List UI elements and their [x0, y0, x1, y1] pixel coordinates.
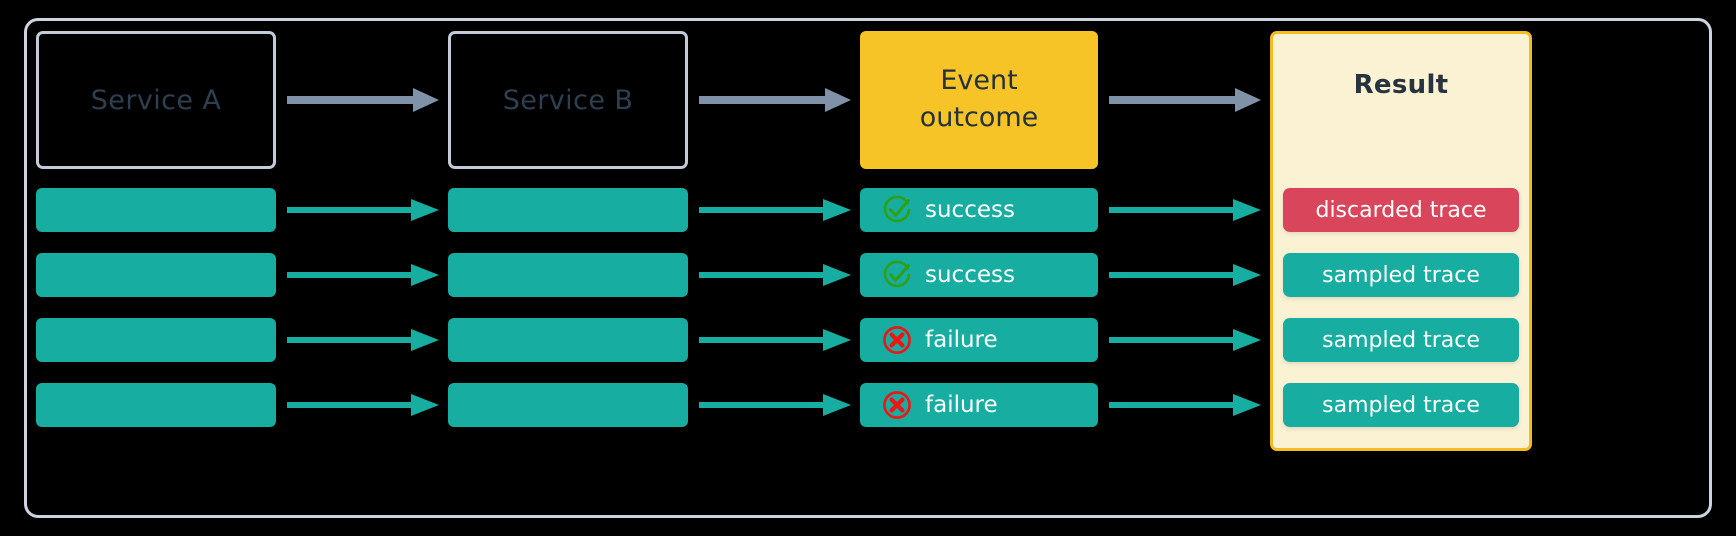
row-arrow-b-to-event-row1: [699, 195, 851, 225]
span-bar-service-a-row1: [36, 188, 276, 232]
event-outcome-pill-row3: failure: [860, 318, 1098, 362]
span-bar-service-a-row3: [36, 318, 276, 362]
result-badge-label-row4: sampled trace: [1322, 393, 1480, 418]
span-bar-service-b-row1: [448, 188, 688, 232]
header-arrow-event-to-result: [1109, 85, 1261, 115]
event-outcome-label-row2: success: [925, 262, 1015, 288]
header-arrow-b-to-event: [699, 85, 851, 115]
row-arrow-a-to-b-row4: [287, 390, 439, 420]
row-arrow-b-to-event-row4: [699, 390, 851, 420]
row-arrow-event-to-result-row1: [1109, 195, 1261, 225]
row-arrow-a-to-b-row3: [287, 325, 439, 355]
event-outcome-pill-row4: failure: [860, 383, 1098, 427]
row-arrow-event-to-result-row3: [1109, 325, 1261, 355]
header-label-service-b: Service B: [503, 85, 634, 116]
span-bar-service-b-row2: [448, 253, 688, 297]
header-label-event-outcome: Event outcome: [920, 63, 1039, 136]
header-label-event-outcome-line1: Event: [940, 65, 1017, 96]
result-badge-label-row2: sampled trace: [1322, 263, 1480, 288]
result-badge-row3: sampled trace: [1283, 318, 1519, 362]
check-circle-icon: [882, 260, 912, 290]
row-arrow-event-to-result-row4: [1109, 390, 1261, 420]
row-arrow-a-to-b-row2: [287, 260, 439, 290]
diagram-canvas: Service A Service B Event outcome Result: [0, 0, 1736, 536]
row-arrow-event-to-result-row2: [1109, 260, 1261, 290]
span-bar-service-a-row2: [36, 253, 276, 297]
x-circle-icon: [882, 325, 912, 355]
check-circle-icon: [882, 195, 912, 225]
header-label-event-outcome-line2: outcome: [920, 102, 1039, 133]
header-card-service-b: Service B: [448, 31, 688, 169]
span-bar-service-b-row4: [448, 383, 688, 427]
event-outcome-label-row4: failure: [925, 392, 998, 418]
span-bar-service-b-row3: [448, 318, 688, 362]
header-label-result: Result: [1273, 70, 1529, 100]
row-arrow-b-to-event-row3: [699, 325, 851, 355]
header-label-service-a: Service A: [91, 85, 221, 116]
header-card-event-outcome: Event outcome: [860, 31, 1098, 169]
x-circle-icon: [882, 390, 912, 420]
result-badge-row1: discarded trace: [1283, 188, 1519, 232]
event-outcome-pill-row1: success: [860, 188, 1098, 232]
row-arrow-b-to-event-row2: [699, 260, 851, 290]
event-outcome-label-row3: failure: [925, 327, 998, 353]
result-badge-row2: sampled trace: [1283, 253, 1519, 297]
result-badge-label-row1: discarded trace: [1315, 198, 1486, 223]
result-badge-row4: sampled trace: [1283, 383, 1519, 427]
header-card-service-a: Service A: [36, 31, 276, 169]
event-outcome-pill-row2: success: [860, 253, 1098, 297]
span-bar-service-a-row4: [36, 383, 276, 427]
result-badge-label-row3: sampled trace: [1322, 328, 1480, 353]
row-arrow-a-to-b-row1: [287, 195, 439, 225]
header-arrow-a-to-b: [287, 85, 439, 115]
event-outcome-label-row1: success: [925, 197, 1015, 223]
